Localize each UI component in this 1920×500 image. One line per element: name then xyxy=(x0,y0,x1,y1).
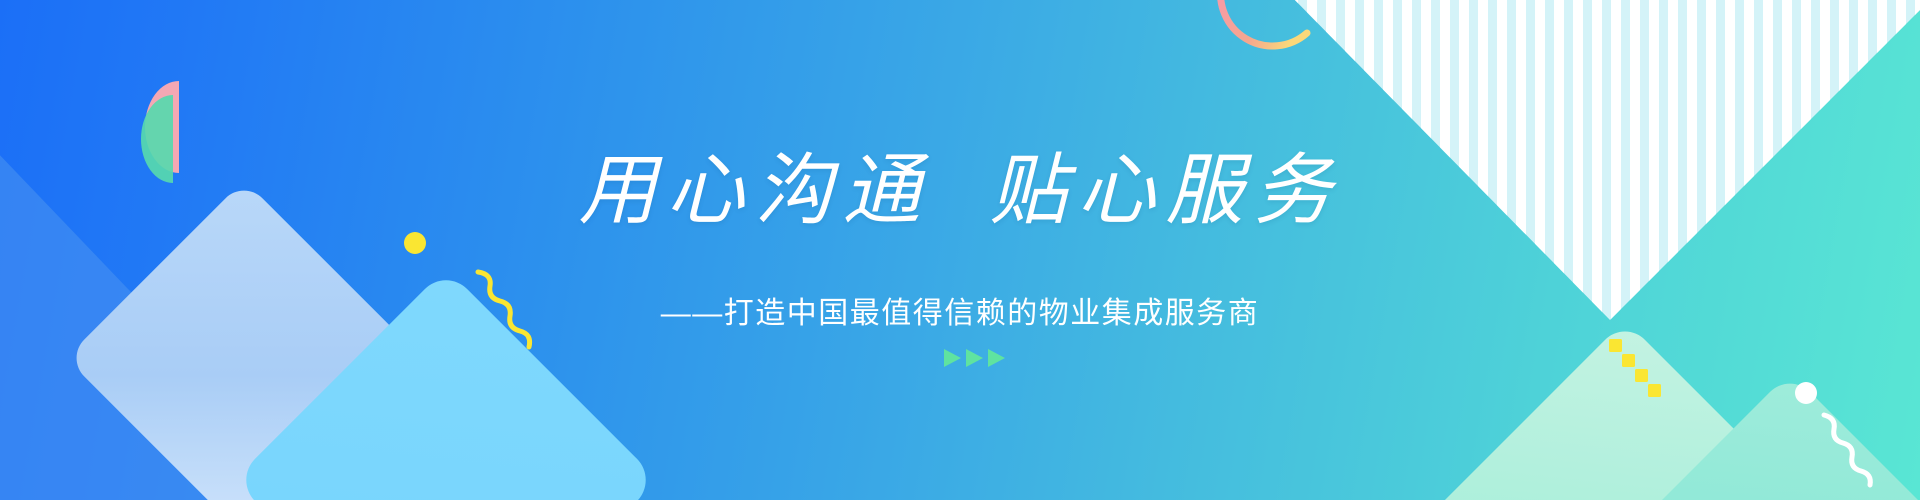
green-arrows xyxy=(944,349,1005,367)
decoration-layer xyxy=(0,0,1920,500)
white-dot xyxy=(1795,382,1817,404)
striped-triangle xyxy=(1280,0,1920,330)
arc-ring-pink-orange xyxy=(1221,0,1307,46)
yellow-dot xyxy=(404,232,426,254)
half-circle-mint xyxy=(141,95,173,183)
hero-banner: 用心沟通 贴心服务 ——打造中国最值得信赖的物业集成服务商 xyxy=(0,0,1920,500)
